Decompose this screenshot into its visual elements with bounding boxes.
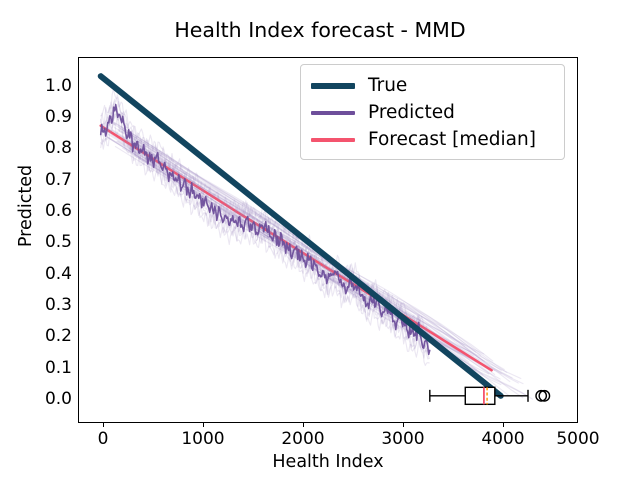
legend-swatch-forecast-median xyxy=(311,138,355,142)
xtick-mark xyxy=(403,423,404,427)
ytick-label: 0.5 xyxy=(26,232,72,252)
xtick-mark xyxy=(303,423,304,427)
xtick-mark xyxy=(203,423,204,427)
ytick-label: 0.6 xyxy=(26,201,72,221)
xtick-mark xyxy=(103,423,104,427)
ytick-label: 0.8 xyxy=(26,138,72,158)
xtick-label: 2000 xyxy=(258,429,348,449)
boxplot xyxy=(430,387,550,404)
ytick-label: 0.2 xyxy=(26,326,72,346)
xtick-label: 5000 xyxy=(533,429,623,449)
chart-figure: Health Index forecast - MMD Predicted He… xyxy=(0,0,640,480)
y-axis-tick-labels: 1.0 0.9 0.8 0.7 0.6 0.5 0.4 0.3 0.2 0.1 … xyxy=(18,0,72,480)
ytick-label: 0.7 xyxy=(26,170,72,190)
legend-label-forecast-median: Forecast [median] xyxy=(368,129,536,150)
legend-item-true[interactable]: True xyxy=(311,72,554,99)
chart-legend[interactable]: True Predicted Forecast [median] xyxy=(300,64,565,160)
xtick-mark xyxy=(503,423,504,427)
xtick-label: 1000 xyxy=(158,429,248,449)
legend-label-predicted: Predicted xyxy=(368,102,455,123)
legend-item-forecast-median[interactable]: Forecast [median] xyxy=(311,126,554,153)
ytick-label: 0.0 xyxy=(26,389,72,409)
legend-swatch-predicted xyxy=(311,111,355,115)
ytick-label: 0.3 xyxy=(26,295,72,315)
x-axis-label: Health Index xyxy=(78,452,578,472)
ytick-label: 0.9 xyxy=(26,107,72,127)
xtick-label: 3000 xyxy=(358,429,448,449)
ytick-label: 0.4 xyxy=(26,264,72,284)
legend-item-predicted[interactable]: Predicted xyxy=(311,99,554,126)
xtick-label: 0 xyxy=(58,429,148,449)
legend-swatch-true xyxy=(311,83,355,89)
chart-title: Health Index forecast - MMD xyxy=(0,18,640,42)
legend-label-true: True xyxy=(368,75,407,96)
ytick-label: 0.1 xyxy=(26,358,72,378)
ytick-label: 1.0 xyxy=(26,76,72,96)
